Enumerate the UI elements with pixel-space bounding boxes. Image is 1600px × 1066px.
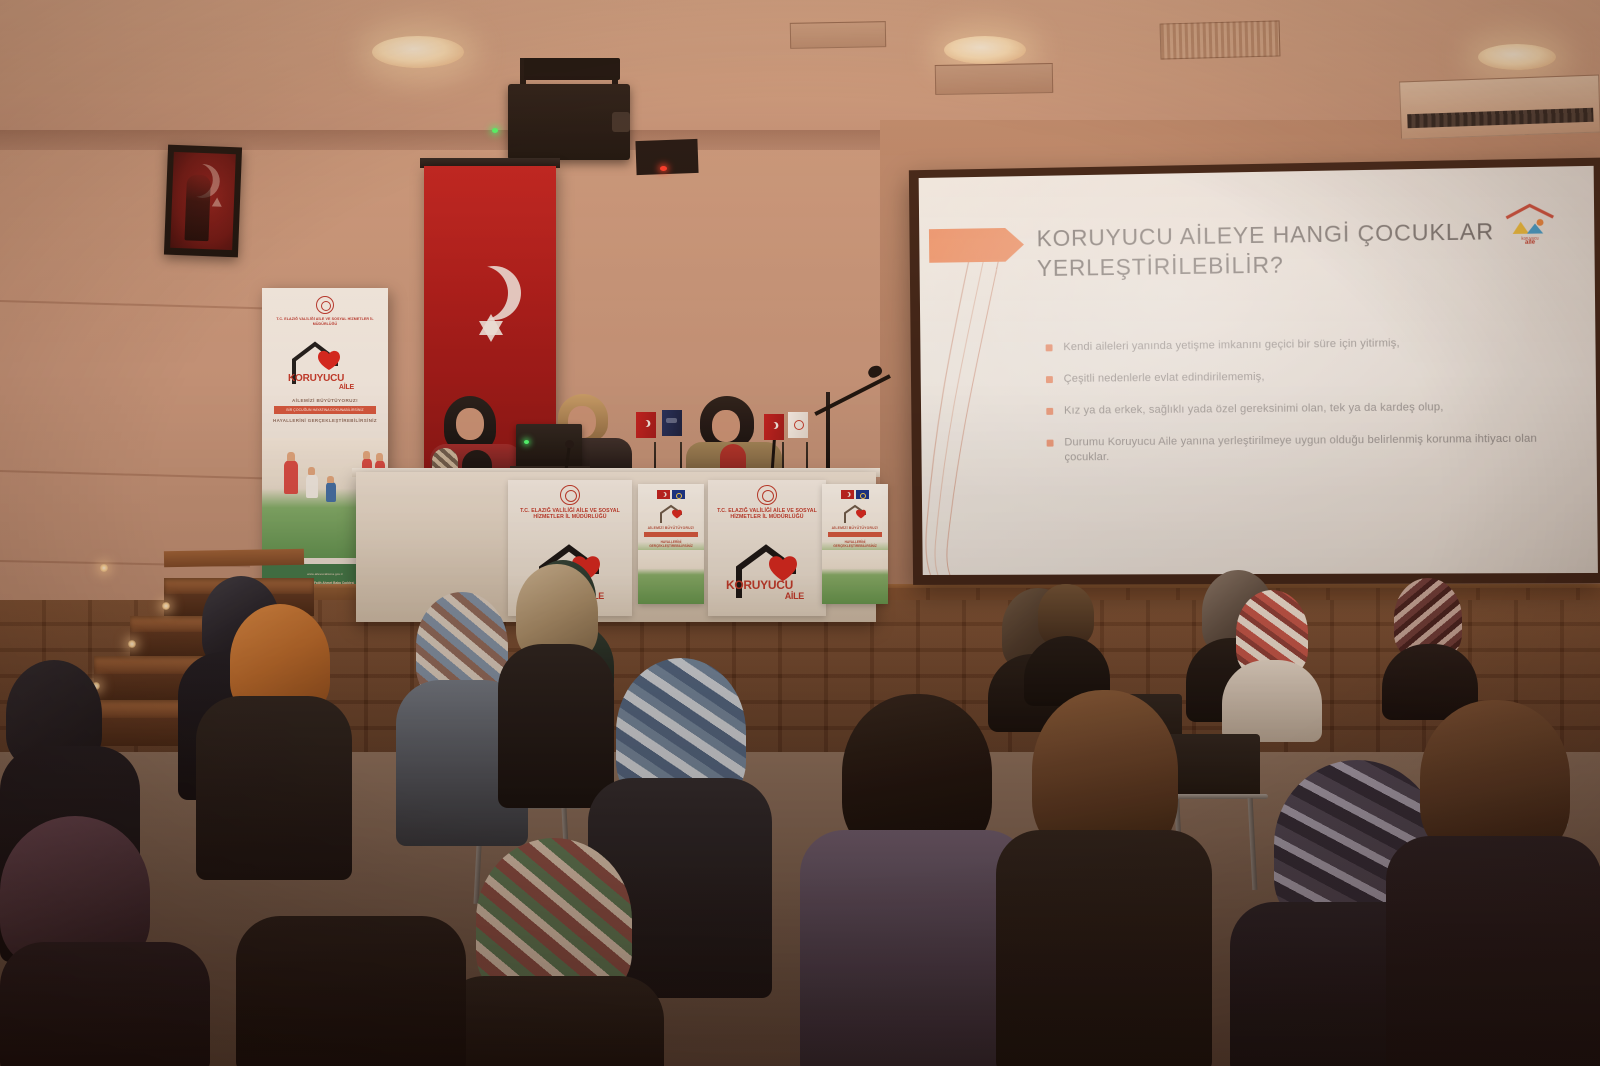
svg-text:aile: aile bbox=[1525, 240, 1536, 245]
poster-slogan-bottom: HAYALLERİNİ GERÇEKLEŞTİREBİLİRSİNİZ bbox=[824, 540, 886, 548]
tc-emblem-icon bbox=[757, 485, 777, 505]
step-handrail bbox=[164, 549, 304, 567]
shoulders bbox=[0, 942, 210, 1066]
table-banner: T.C. ELAZIĞ VALİLİĞİ AİLE VE SOSYAL HİZM… bbox=[708, 480, 826, 616]
attendee-9 bbox=[1222, 590, 1322, 740]
figure-child bbox=[326, 482, 336, 502]
shoulders bbox=[1386, 836, 1600, 1066]
ataturk-portrait bbox=[164, 145, 242, 258]
koruyucu-aile-logo: koruyucu aile bbox=[1500, 203, 1560, 244]
flag-cloth bbox=[788, 412, 808, 438]
poster-strip bbox=[644, 532, 698, 537]
laptop-power-led bbox=[524, 440, 529, 444]
tc-emblem-icon bbox=[316, 296, 334, 314]
ceiling-light bbox=[944, 36, 1026, 64]
slide-bullet: Durumu Koruyucu Aile yanına yerleştirilm… bbox=[1047, 432, 1540, 466]
rollup-slogan-bottom: HAYALLERİNİ GERÇEKLEŞTİREBİLİRSİNİZ bbox=[266, 418, 384, 424]
wall-status-led bbox=[492, 128, 498, 133]
figure-head bbox=[308, 467, 315, 475]
eu-project-poster: AİLEMİZİ BÜYÜTÜYORUZ! HAYALLERİNİ GERÇEK… bbox=[822, 484, 888, 604]
attendee-9 bbox=[1386, 700, 1600, 1066]
table-banner-brand-sub: AİLE bbox=[726, 591, 820, 602]
table-banner-gov-text: T.C. ELAZIĞ VALİLİĞİ AİLE VE SOSYAL HİZM… bbox=[710, 508, 824, 521]
slide-title: KORUYUCU AİLEYE HANGİ ÇOCUKLAR YERLEŞTİR… bbox=[1037, 216, 1518, 283]
eu-flag-icon bbox=[672, 490, 685, 499]
flag-cloth bbox=[764, 414, 784, 440]
attendee-10 bbox=[1024, 584, 1110, 704]
house-heart-icon bbox=[842, 504, 868, 524]
slide-bullet: Kız ya da erkek, sağlıklı yada özel gere… bbox=[1046, 399, 1539, 419]
figure-woman bbox=[284, 460, 298, 494]
rollup-slogan-top: AİLEMİZİ BÜYÜTÜYORUZ! bbox=[266, 398, 384, 403]
attendee-3 bbox=[196, 604, 352, 874]
poster-illustration bbox=[822, 550, 888, 604]
ceiling-light bbox=[1478, 44, 1556, 70]
house-heart-icon bbox=[658, 504, 684, 524]
shoulders bbox=[440, 976, 664, 1066]
eu-project-poster: AİLEMİZİ BÜYÜTÜYORUZ! HAYALLERİNİ GERÇEK… bbox=[638, 484, 704, 604]
poster-slogan-top: AİLEMİZİ BÜYÜTÜYORUZ! bbox=[640, 526, 702, 530]
figure-head bbox=[376, 453, 383, 461]
slide-bullet-list: Kendi aileleri yanında yetişme imkanını … bbox=[1046, 335, 1540, 483]
presentation-slide: KORUYUCU AİLEYE HANGİ ÇOCUKLAR YERLEŞTİR… bbox=[919, 166, 1598, 575]
rollup-brand-main: KORUYUCU bbox=[288, 373, 344, 384]
poster-flags bbox=[841, 490, 869, 499]
figure-head bbox=[327, 476, 334, 483]
projector-ceiling-bracket bbox=[524, 58, 620, 80]
star-shape bbox=[212, 197, 222, 206]
step-light bbox=[128, 640, 136, 648]
portrait-figure bbox=[184, 174, 211, 241]
poster-slogan-bottom: HAYALLERİNİ GERÇEKLEŞTİREBİLİRSİNİZ bbox=[640, 540, 702, 548]
flag-cloth bbox=[636, 412, 656, 438]
rollup-brand-sub: AİLE bbox=[288, 383, 368, 392]
table-banner-gov-text: T.C. ELAZIĞ VALİLİĞİ AİLE VE SOSYAL HİZM… bbox=[510, 508, 630, 521]
attendee-13 bbox=[0, 816, 210, 1066]
table-banner-brand: KORUYUCU AİLE bbox=[726, 580, 820, 602]
slide-bullet: Çeşitli nedenlerle evlat edindirilememiş… bbox=[1046, 367, 1539, 387]
ac-louver-vent bbox=[1160, 20, 1281, 59]
step-light bbox=[162, 602, 170, 610]
table-banner-brand-main: KORUYUCU bbox=[726, 578, 793, 592]
attendee-6 bbox=[440, 838, 664, 1066]
ac-unit bbox=[1399, 75, 1600, 140]
star-icon bbox=[479, 314, 503, 335]
eu-flag-icon bbox=[856, 490, 869, 499]
seminar-photo: T.C. ELAZIĞ VALİLİĞİ AİLE VE SOSYAL HİZM… bbox=[0, 0, 1600, 1066]
shoulders bbox=[1222, 660, 1322, 742]
poster-flags bbox=[657, 490, 685, 499]
projection-screen: KORUYUCU AİLEYE HANGİ ÇOCUKLAR YERLEŞTİR… bbox=[909, 158, 1600, 585]
rollup-brand: KORUYUCU AİLE bbox=[288, 374, 368, 392]
shoulders bbox=[236, 916, 466, 1066]
attendee-11 bbox=[996, 690, 1212, 1066]
rollup-gov-text: T.C. ELAZIĞ VALİLİĞİ AİLE VE SOSYAL HİZM… bbox=[266, 317, 384, 326]
ac-vent bbox=[790, 21, 886, 49]
step-light bbox=[100, 564, 108, 572]
attendee-3 bbox=[236, 916, 466, 1066]
attendee-7 bbox=[1382, 578, 1478, 718]
projector-power-led bbox=[660, 166, 667, 171]
projector-secondary-unit bbox=[635, 139, 698, 175]
flag-cloth bbox=[662, 410, 682, 436]
crescent-icon bbox=[454, 266, 508, 320]
tc-emblem-icon bbox=[560, 485, 580, 505]
shoulders bbox=[996, 830, 1212, 1066]
turkey-flag-icon bbox=[841, 490, 854, 499]
rollup-slogan-strip: BİR ÇOCUĞUN HAYATINA DOKUNABİLİRSİNİZ bbox=[274, 406, 376, 414]
face bbox=[712, 410, 740, 442]
projector-lens bbox=[612, 112, 630, 132]
ac-vent bbox=[935, 63, 1054, 95]
shoulders bbox=[196, 696, 352, 880]
poster-illustration bbox=[638, 550, 704, 604]
figure-head bbox=[287, 452, 295, 461]
slide-accent-arrow bbox=[929, 228, 1006, 263]
poster-strip bbox=[828, 532, 882, 537]
poster-slogan-top: AİLEMİZİ BÜYÜTÜYORUZ! bbox=[824, 526, 886, 530]
slide-bullet: Kendi aileleri yanında yetişme imkanını … bbox=[1046, 335, 1539, 356]
figure-head bbox=[363, 451, 370, 459]
face bbox=[456, 408, 484, 440]
portrait-image bbox=[170, 152, 236, 250]
turkey-flag-icon bbox=[657, 490, 670, 499]
ceiling-light bbox=[372, 36, 464, 68]
figure-child bbox=[306, 474, 318, 498]
